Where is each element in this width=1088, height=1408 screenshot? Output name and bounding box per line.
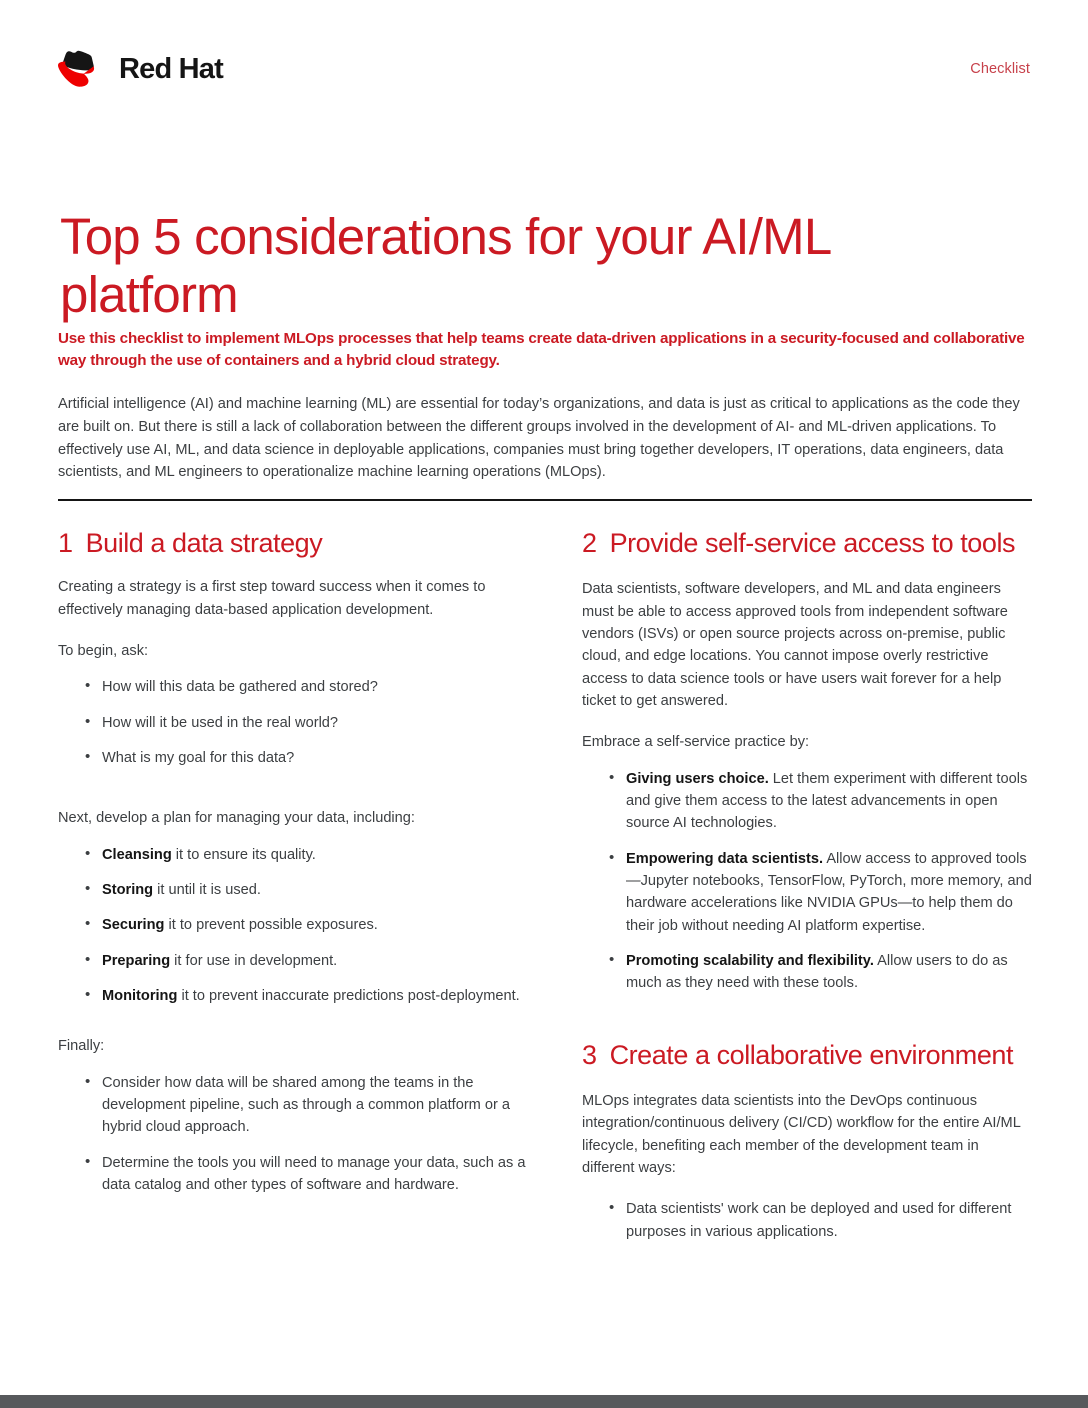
section-heading-2: 2 Provide self-service access to tools (582, 527, 1032, 559)
section-title-3: Create a collaborative environment (610, 1039, 1013, 1071)
list-item: How will this data be gathered and store… (85, 676, 546, 698)
section-2-paragraph: Data scientists, software developers, an… (582, 578, 1032, 712)
section-title-2: Provide self-service access to tools (610, 527, 1015, 559)
section-1-ask-list: How will this data be gathered and store… (58, 676, 546, 769)
document-type-label: Checklist (970, 61, 1030, 77)
red-hat-fedora-logo-icon (58, 50, 110, 88)
list-item: Giving users choice. Let them experiment… (609, 768, 1032, 835)
section-1-plan-list: Cleansing it to ensure its quality. Stor… (58, 844, 546, 1008)
red-hat-logo: Red Hat (58, 50, 223, 88)
section-heading-1: 1 Build a data strategy (58, 527, 546, 559)
intro-body-paragraph: Artificial intelligence (AI) and machine… (58, 393, 1032, 484)
list-item-text: it to prevent inaccurate predictions pos… (177, 988, 519, 1004)
section-1-finally-lead: Finally: (58, 1035, 546, 1057)
section-2-practice-list: Giving users choice. Let them experiment… (582, 768, 1032, 995)
footer-bar (0, 1395, 1088, 1408)
list-item: Cleansing it to ensure its quality. (85, 844, 546, 866)
section-1-plan-lead: Next, develop a plan for managing your d… (58, 807, 546, 829)
right-column: 2 Provide self-service access to tools D… (582, 527, 1032, 1259)
header-divider-rule (58, 499, 1032, 501)
intro-lead-paragraph: Use this checklist to implement MLOps pr… (58, 328, 1032, 371)
list-item: Consider how data will be shared among t… (85, 1072, 546, 1139)
red-hat-wordmark: Red Hat (119, 55, 223, 84)
list-item-text: it to prevent possible exposures. (164, 917, 377, 933)
section-number-2: 2 (582, 527, 597, 559)
left-column: 1 Build a data strategy Creating a strat… (58, 527, 582, 1259)
list-item-bold: Storing (102, 882, 153, 898)
document-page: Red Hat Checklist Top 5 considerations f… (0, 0, 1088, 1408)
list-item-bold: Monitoring (102, 988, 177, 1004)
list-item-text: it until it is used. (153, 882, 261, 898)
section-title-1: Build a data strategy (86, 527, 323, 559)
spacer (58, 1023, 546, 1035)
list-item-bold: Empowering data scientists. (626, 851, 823, 867)
section-3-list: Data scientists' work can be deployed an… (582, 1198, 1032, 1243)
section-1-ask-lead: To begin, ask: (58, 640, 546, 662)
section-3-paragraph: MLOps integrates data scientists into th… (582, 1090, 1032, 1179)
list-item-bold: Securing (102, 917, 164, 933)
list-item: Promoting scalability and flexibility. A… (609, 950, 1032, 995)
list-item: Determine the tools you will need to man… (85, 1152, 546, 1197)
list-item-bold: Preparing (102, 953, 170, 969)
section-heading-3: 3 Create a collaborative environment (582, 1039, 1032, 1071)
list-item: Empowering data scientists. Allow access… (609, 848, 1032, 937)
list-item: Preparing it for use in development. (85, 950, 546, 972)
spacer (58, 785, 546, 807)
section-1-finally-list: Consider how data will be shared among t… (58, 1072, 546, 1197)
section-number-3: 3 (582, 1039, 597, 1071)
page-header: Red Hat Checklist (58, 46, 1030, 92)
list-item-bold: Promoting scalability and flexibility. (626, 953, 874, 969)
list-item-bold: Cleansing (102, 847, 172, 863)
section-1-intro-paragraph: Creating a strategy is a first step towa… (58, 576, 546, 621)
list-item: How will it be used in the real world? (85, 712, 546, 734)
list-item: Storing it until it is used. (85, 879, 546, 901)
section-2-practice-lead: Embrace a self-service practice by: (582, 731, 1032, 753)
list-item: Securing it to prevent possible exposure… (85, 914, 546, 936)
content-columns: 1 Build a data strategy Creating a strat… (58, 527, 1032, 1259)
list-item: Monitoring it to prevent inaccurate pred… (85, 985, 546, 1007)
list-item-text: it for use in development. (170, 953, 337, 969)
list-item-text: it to ensure its quality. (172, 847, 316, 863)
list-item: Data scientists' work can be deployed an… (609, 1198, 1032, 1243)
list-item-bold: Giving users choice. (626, 771, 769, 787)
page-title: Top 5 considerations for your AI/ML plat… (60, 208, 940, 324)
section-number-1: 1 (58, 527, 73, 559)
intro-block: Use this checklist to implement MLOps pr… (58, 328, 1032, 484)
list-item: What is my goal for this data? (85, 747, 546, 769)
